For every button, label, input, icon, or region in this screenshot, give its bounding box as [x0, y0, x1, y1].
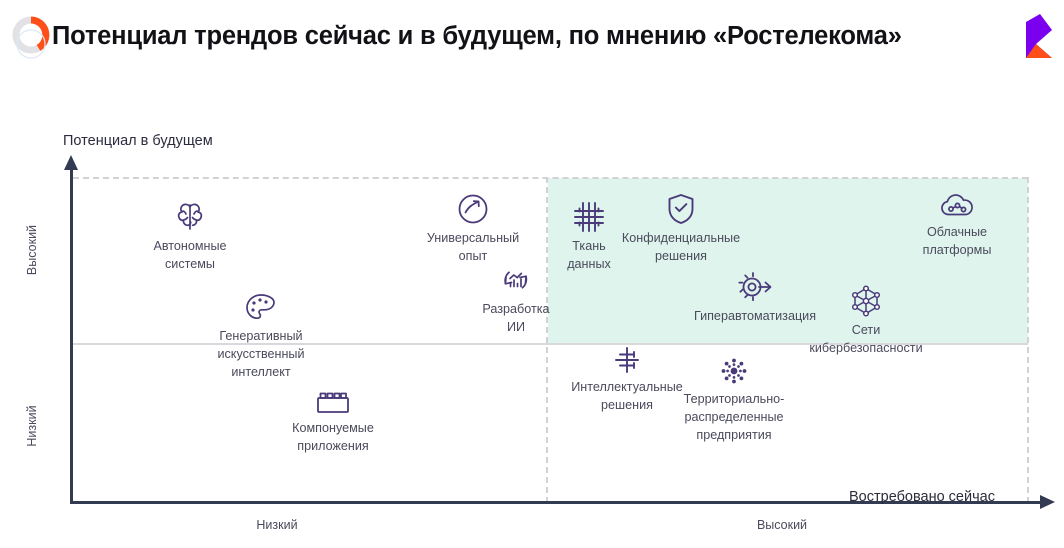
trend-label: Территориально- распределенные предприят… [684, 392, 785, 442]
shield-check-icon [611, 192, 751, 226]
guide-line-right-vertical [1027, 177, 1029, 503]
trend-item-generative-ai[interactable]: Генеративный искусственный интеллект [203, 292, 319, 381]
trend-label: Разработка ИИ [482, 302, 549, 334]
arrow-circle-icon [412, 192, 534, 226]
trend-item-ai-development[interactable]: Разработка ИИ [466, 263, 566, 336]
trend-label: Универсальный опыт [427, 231, 519, 263]
trend-item-universal-experience[interactable]: Универсальный опыт [412, 192, 534, 265]
cloud-network-icon [905, 192, 1009, 220]
trend-label: Генеративный искусственный интеллект [217, 329, 304, 379]
trend-label: Интеллектуальные решения [571, 380, 683, 412]
brain-icon [130, 200, 250, 234]
circuit-node-icon [559, 345, 695, 375]
trend-label: Конфиденциальные решения [622, 231, 740, 263]
distributed-dots-icon [676, 355, 792, 387]
y-axis-title: Потенциал в будущем [63, 133, 213, 149]
trend-label: Облачные платформы [923, 225, 992, 257]
x-axis-arrow-icon [1040, 495, 1055, 509]
trend-label: Сети кибербезопасности [809, 323, 922, 355]
trend-quadrant-chart: Потенциал в будущем Востребовано сейчас … [0, 0, 1064, 548]
guide-line-middle-vertical [546, 177, 548, 503]
palette-icon [203, 292, 319, 324]
trend-item-intelligent-solutions[interactable]: Интеллектуальные решения [559, 345, 695, 414]
y-axis-tick-low: Низкий [25, 376, 39, 476]
y-axis-tick-high: Высокий [25, 200, 39, 300]
trend-item-autonomous-systems[interactable]: Автономные системы [130, 200, 250, 273]
trend-label: Ткань данных [567, 239, 611, 271]
y-axis-line [70, 168, 73, 504]
lego-brick-icon [273, 390, 393, 416]
trend-item-distributed-enterprises[interactable]: Территориально- распределенные предприят… [676, 355, 792, 444]
x-axis-title: Востребовано сейчас [849, 489, 995, 505]
trend-label: Компонуемые приложения [292, 421, 374, 453]
trend-item-cybersecurity-networks[interactable]: Сети кибербезопасности [796, 284, 936, 357]
trend-item-composable-apps[interactable]: Компонуемые приложения [273, 390, 393, 455]
x-axis-tick-high: Высокий [727, 518, 837, 532]
trend-label: Автономные системы [153, 239, 226, 271]
x-axis-tick-low: Низкий [222, 518, 332, 532]
network-mesh-icon [796, 284, 936, 318]
guide-line-top [73, 177, 1028, 179]
trend-item-cloud-platforms[interactable]: Облачные платформы [905, 192, 1009, 259]
trend-item-confidential-solutions[interactable]: Конфиденциальные решения [611, 192, 751, 265]
y-axis-arrow-icon [64, 155, 78, 170]
